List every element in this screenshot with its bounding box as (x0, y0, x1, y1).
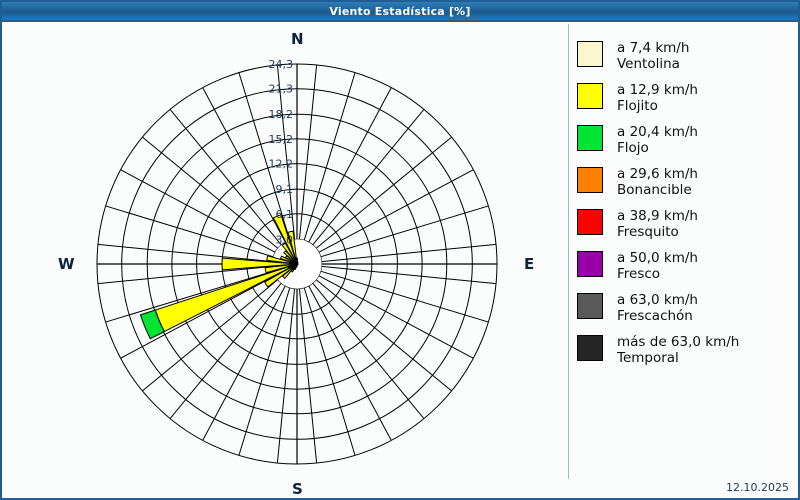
grid-spoke (322, 266, 496, 283)
legend-speed-range: a 29,6 km/h (617, 166, 698, 182)
legend-category-name: Frescachón (617, 308, 698, 324)
legend-category-name: Ventolina (617, 56, 689, 72)
legend-label: a 12,9 km/hFlojito (617, 82, 698, 115)
legend-item[interactable]: a 50,0 km/hFresco (577, 250, 787, 283)
legend-color-swatch (577, 293, 603, 319)
radial-tick-label: 24,3 (269, 58, 294, 71)
legend-color-swatch (577, 41, 603, 67)
grid-spoke (304, 288, 355, 456)
grid-spoke (239, 288, 290, 456)
radial-tick-label: 15,2 (269, 133, 294, 146)
date-stamp: 12.10.2025 (726, 481, 789, 494)
legend-label: más de 63,0 km/hTemporal (617, 334, 739, 367)
legend-speed-range: a 38,9 km/h (617, 208, 698, 224)
legend-speed-range: a 20,4 km/h (617, 124, 698, 140)
wind-rose-svg: 3,06,19,112,215,218,221,324,3 (2, 22, 562, 500)
legend-item[interactable]: a 29,6 km/hBonancible (577, 166, 787, 199)
legend-color-swatch (577, 209, 603, 235)
legend-category-name: Temporal (617, 350, 739, 366)
legend-label: a 20,4 km/hFlojo (617, 124, 698, 157)
legend-item[interactable]: a 38,9 km/hFresquito (577, 208, 787, 241)
compass-label-south: S (292, 480, 303, 498)
legend-label: a 29,6 km/hBonancible (617, 166, 698, 199)
radial-tick-label: 12,2 (269, 158, 294, 171)
grid-spoke (299, 289, 316, 463)
window-title-bar: Viento Estadística [%] (2, 2, 798, 20)
legend-label: a 38,9 km/hFresquito (617, 208, 698, 241)
legend-label: a 63,0 km/hFrescachón (617, 292, 698, 325)
legend-item[interactable]: más de 63,0 km/hTemporal (577, 334, 787, 367)
radial-tick-label: 6,1 (276, 208, 294, 221)
legend-color-swatch (577, 167, 603, 193)
legend-speed-range: a 50,0 km/h (617, 250, 698, 266)
legend-speed-range: a 63,0 km/h (617, 292, 698, 308)
legend-category-name: Flojo (617, 140, 698, 156)
grid-spoke (321, 271, 489, 322)
legend-item[interactable]: a 7,4 km/hVentolina (577, 40, 787, 73)
legend-color-swatch (577, 125, 603, 151)
wind-rose-sector (155, 267, 289, 332)
legend-color-swatch (577, 335, 603, 361)
legend-item[interactable]: a 63,0 km/hFrescachón (577, 292, 787, 325)
legend-color-swatch (577, 251, 603, 277)
legend-label: a 7,4 km/hVentolina (617, 40, 689, 73)
grid-spoke (322, 244, 496, 261)
legend-speed-range: a 12,9 km/h (617, 82, 698, 98)
legend-label: a 50,0 km/hFresco (617, 250, 698, 283)
grid-spoke (304, 73, 355, 241)
wind-rose-window: Viento Estadística [%] 3,06,19,112,215,2… (0, 0, 800, 500)
legend-item[interactable]: a 12,9 km/hFlojito (577, 82, 787, 115)
legend-category-name: Flojito (617, 98, 698, 114)
legend-separator (568, 24, 569, 479)
grid-spoke (321, 206, 489, 257)
legend-category-name: Fresquito (617, 224, 698, 240)
window-title: Viento Estadística [%] (329, 5, 470, 18)
legend-speed-range: a 7,4 km/h (617, 40, 689, 56)
grid-spoke (106, 206, 274, 257)
legend-category-name: Bonancible (617, 182, 698, 198)
grid-spoke (277, 289, 294, 463)
radial-tick-label: 9,1 (276, 183, 294, 196)
legend-item[interactable]: a 20,4 km/hFlojo (577, 124, 787, 157)
compass-label-west: W (58, 255, 75, 273)
grid-spoke (299, 65, 316, 239)
radial-tick-label: 21,3 (269, 83, 294, 96)
compass-label-north: N (291, 30, 304, 48)
compass-label-east: E (524, 255, 534, 273)
radial-tick-label: 3,0 (276, 233, 294, 246)
legend: a 7,4 km/hVentolinaa 12,9 km/hFlojitoa 2… (577, 40, 787, 376)
grid-spoke (98, 244, 272, 261)
wind-rose-plot: 3,06,19,112,215,218,221,324,3 (2, 22, 562, 500)
legend-speed-range: más de 63,0 km/h (617, 334, 739, 350)
legend-category-name: Fresco (617, 266, 698, 282)
legend-color-swatch (577, 83, 603, 109)
radial-tick-label: 18,2 (269, 108, 294, 121)
